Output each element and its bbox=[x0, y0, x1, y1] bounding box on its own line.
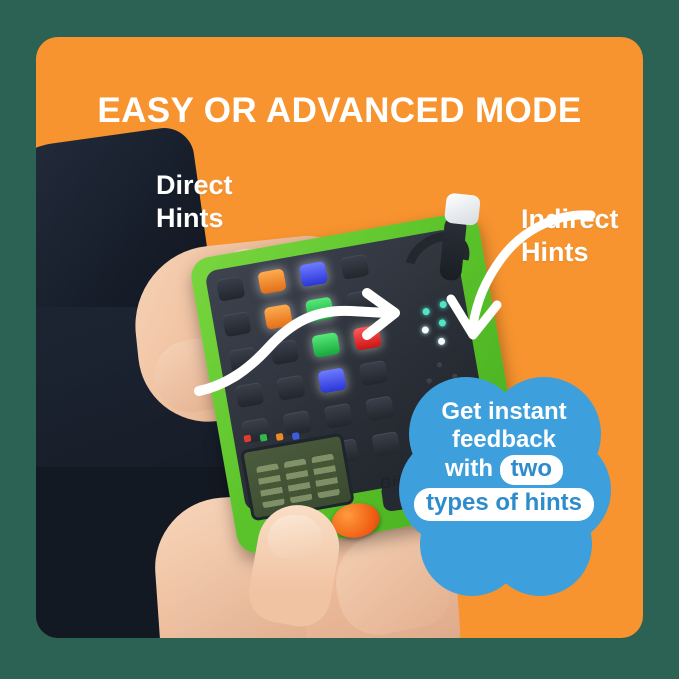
status-led-orange bbox=[276, 433, 284, 441]
callout-direct-hints: Direct Hints bbox=[156, 169, 233, 235]
feedback-callout: Get instant feedback with two types of h… bbox=[394, 372, 614, 597]
callout-direct-line2: Hints bbox=[156, 202, 233, 235]
cloud-line-4: types of hints bbox=[394, 485, 614, 521]
poster-root: GiiKER EASY OR ADVANCED MODE Direct Hint… bbox=[0, 0, 679, 679]
status-led-red bbox=[243, 434, 251, 442]
cloud-line-1: Get instant bbox=[394, 398, 614, 426]
thumbnail bbox=[268, 515, 322, 559]
keypad-button-r4-c2[interactable] bbox=[324, 403, 353, 429]
status-led-blue bbox=[292, 432, 300, 440]
keypad-button-r4-c3[interactable] bbox=[365, 396, 394, 422]
page-title: EASY OR ADVANCED MODE bbox=[36, 93, 643, 128]
cloud-pill-two: two bbox=[500, 455, 563, 485]
cloud-line-3: with two bbox=[394, 455, 614, 485]
cloud-pill-types: types of hints bbox=[414, 488, 594, 521]
status-led-green bbox=[260, 434, 268, 442]
indicator-led-1 bbox=[422, 308, 430, 316]
arrow-direct-icon bbox=[191, 265, 421, 395]
feedback-callout-text: Get instant feedback with two types of h… bbox=[394, 398, 614, 521]
arrow-indirect-icon bbox=[431, 207, 601, 347]
indicator-led-3 bbox=[421, 326, 429, 334]
cloud-line-2: feedback bbox=[394, 426, 614, 454]
panel-dot bbox=[437, 362, 443, 368]
callout-direct-line1: Direct bbox=[156, 169, 233, 202]
cloud-line-3-prefix: with bbox=[445, 455, 493, 482]
orange-card: GiiKER EASY OR ADVANCED MODE Direct Hint… bbox=[36, 37, 643, 638]
